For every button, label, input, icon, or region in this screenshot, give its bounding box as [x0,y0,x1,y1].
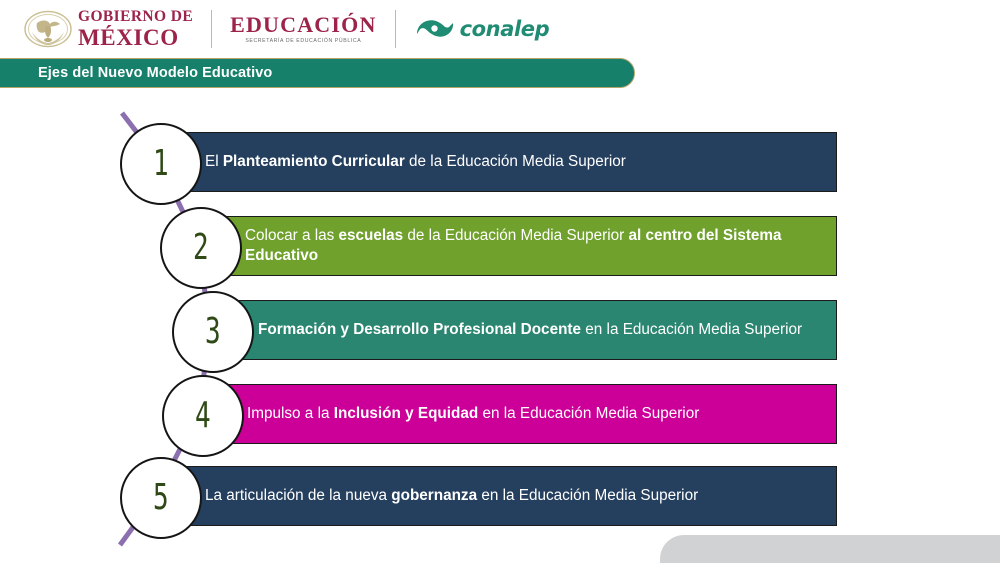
decorative-corner-shape [660,535,1000,563]
slide-canvas: GOBIERNO DE MÉXICO EDUCACIÓN SECRETARÍA … [0,0,1000,563]
step-text-3: Formación y Desarrollo Profesional Docen… [258,320,828,340]
step-bar-1[interactable]: El Planteamiento Curricular de la Educac… [186,132,837,192]
step-bar-3[interactable]: Formación y Desarrollo Profesional Docen… [239,300,837,360]
step-number-2: 2 [193,230,209,266]
step-item-3[interactable]: Formación y Desarrollo Profesional Docen… [0,300,1000,360]
logo-divider-1 [211,10,212,48]
conalep-wordmark: conalep [460,17,550,41]
step-text-2: Colocar a las escuelas de la Educación M… [245,226,827,265]
step-circle-1[interactable]: 1 [120,123,202,205]
step-item-5[interactable]: La articulación de la nueva gobernanza e… [0,466,1000,526]
gobierno-line1: GOBIERNO DE [78,9,193,25]
step-bar-5[interactable]: La articulación de la nueva gobernanza e… [186,466,837,526]
section-title-bar: Ejes del Nuevo Modelo Educativo [0,58,635,88]
step-number-1: 1 [153,146,169,182]
step-item-4[interactable]: Impulso a la Inclusión y Equidad en la E… [0,384,1000,444]
conalep-logo: conalep [414,14,550,44]
step-text-1: El Planteamiento Curricular de la Educac… [205,152,820,172]
educacion-title: EDUCACIÓN [230,14,376,36]
step-bar-4[interactable]: Impulso a la Inclusión y Equidad en la E… [228,384,837,444]
step-number-5: 5 [153,480,169,516]
step-item-2[interactable]: Colocar a las escuelas de la Educación M… [0,216,1000,276]
header-logo-bar: GOBIERNO DE MÉXICO EDUCACIÓN SECRETARÍA … [0,0,1000,58]
page-title: Ejes del Nuevo Modelo Educativo [38,65,272,81]
step-circle-3[interactable]: 3 [172,291,254,373]
step-item-1[interactable]: El Planteamiento Curricular de la Educac… [0,132,1000,192]
step-circle-5[interactable]: 5 [120,457,202,539]
gobierno-wordmark: GOBIERNO DE MÉXICO [78,9,193,49]
gobierno-de-mexico-logo: GOBIERNO DE MÉXICO [0,9,193,49]
gobierno-line2: MÉXICO [78,26,193,49]
step-number-3: 3 [205,314,221,350]
step-text-5: La articulación de la nueva gobernanza e… [205,486,820,506]
step-text-4: Impulso a la Inclusión y Equidad en la E… [247,404,827,424]
step-circle-2[interactable]: 2 [160,207,242,289]
educacion-subtitle: SECRETARÍA DE EDUCACIÓN PÚBLICA [230,39,376,44]
step-number-4: 4 [195,398,211,434]
logo-divider-2 [395,10,396,48]
conalep-leaf-icon [414,14,456,44]
step-circle-4[interactable]: 4 [162,375,244,457]
step-bar-2[interactable]: Colocar a las escuelas de la Educación M… [226,216,837,276]
educacion-logo: EDUCACIÓN SECRETARÍA DE EDUCACIÓN PÚBLIC… [230,14,376,44]
mexico-coat-of-arms-icon [22,9,74,49]
